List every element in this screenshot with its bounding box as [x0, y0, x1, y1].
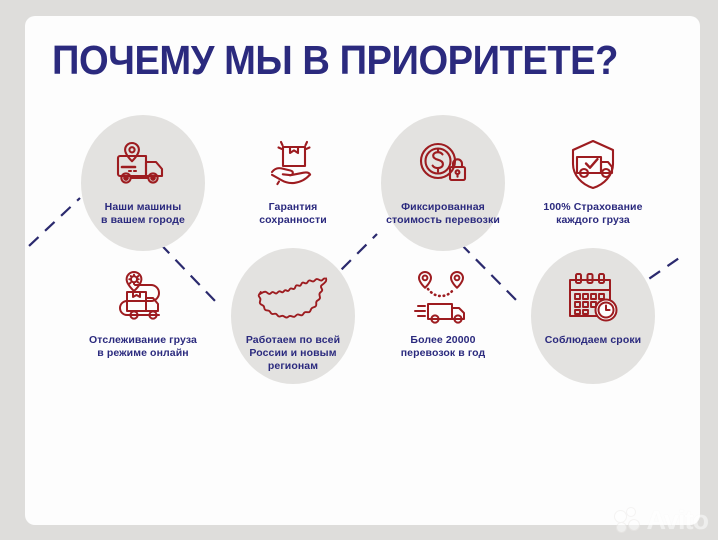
- feature-caption: Фиксированная стоимость перевозки: [370, 201, 516, 227]
- feature-caption: Наши машины в вашем городе: [70, 201, 216, 227]
- feature-caption: Гарантия сохранности: [220, 201, 366, 227]
- truck-route-gear-pin-icon: [70, 266, 216, 330]
- page-title: ПОЧЕМУ МЫ В ПРИОРИТЕТЕ?: [52, 37, 629, 83]
- feature-caption: 100% Страхование каждого груза: [520, 201, 666, 227]
- feature-caption: Отслеживание груза в режиме онлайн: [70, 334, 216, 360]
- feature-caption: Работаем по всей России и новым регионам: [220, 334, 366, 373]
- feature-our-trucks-in-your-city[interactable]: Наши машины в вашем городе: [70, 133, 216, 227]
- avito-dots-logo: [615, 508, 642, 534]
- poster-card: ПОЧЕМУ МЫ В ПРИОРИТЕТЕ?: [25, 16, 700, 525]
- feature-caption: Соблюдаем сроки: [520, 334, 666, 347]
- two-pins-dotted-route-truck-icon: [370, 266, 516, 330]
- feature-all-russia-and-new-regions[interactable]: Работаем по всей России и новым регионам: [220, 266, 366, 373]
- shield-truck-check-icon: [520, 133, 666, 197]
- avito-watermark: Avito: [615, 507, 709, 534]
- feature-caption: Более 20000 перевозок в год: [370, 334, 516, 360]
- hand-holding-box-icon: [220, 133, 366, 197]
- russia-map-icon: [220, 266, 366, 330]
- avito-wordmark: Avito: [647, 507, 709, 534]
- feature-full-cargo-insurance[interactable]: 100% Страхование каждого груза: [520, 133, 666, 227]
- calendar-clock-icon: [520, 266, 666, 330]
- feature-fixed-shipping-cost[interactable]: Фиксированная стоимость перевозки: [370, 133, 516, 227]
- truck-with-location-pin-icon: [70, 133, 216, 197]
- dollar-coin-with-lock-icon: [370, 133, 516, 197]
- feature-safety-guarantee[interactable]: Гарантия сохранности: [220, 133, 366, 227]
- feature-more-than-20000-shipments[interactable]: Более 20000 перевозок в год: [370, 266, 516, 360]
- feature-online-cargo-tracking[interactable]: Отслеживание груза в режиме онлайн: [70, 266, 216, 360]
- feature-we-meet-deadlines[interactable]: Соблюдаем сроки: [520, 266, 666, 347]
